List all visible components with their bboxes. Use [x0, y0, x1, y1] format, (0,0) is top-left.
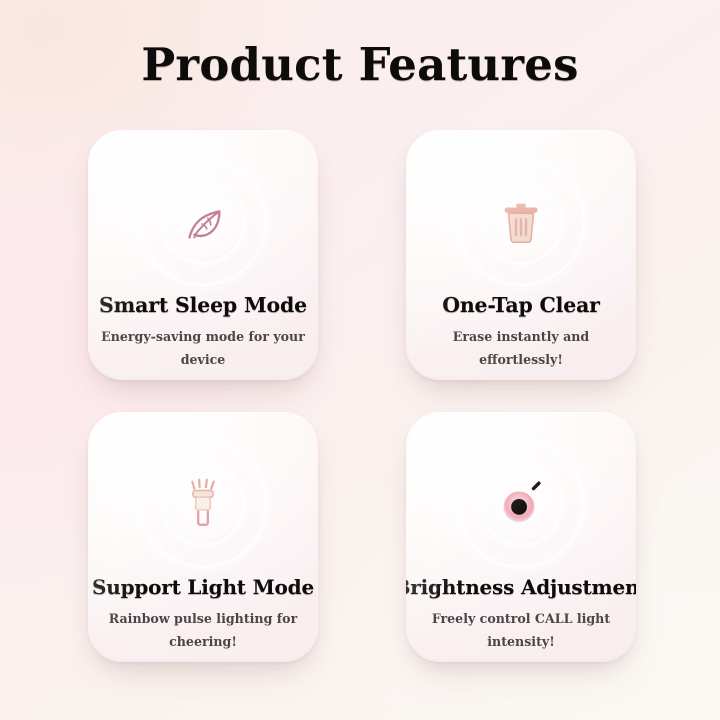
icon-halo — [457, 440, 585, 568]
icon-halo — [457, 158, 585, 286]
feature-card-support-light-mode[interactable]: Support Light Mode Rainbow pulse lightin… — [88, 412, 318, 662]
trash-can-icon — [494, 195, 548, 249]
card-description: Rainbow pulse lighting for cheering! — [94, 608, 312, 654]
feature-card-smart-sleep-mode[interactable]: Smart Sleep Mode Energy-saving mode for … — [88, 130, 318, 380]
feature-card-brightness-adjustment[interactable]: Brightness Adjustment Freely control CAL… — [406, 412, 636, 662]
card-description: Freely control CALL light intensity! — [412, 608, 630, 654]
card-title: Support Light Mode — [88, 575, 318, 599]
brightness-dial-icon — [494, 477, 548, 531]
flashlight-icon — [176, 477, 230, 531]
icon-halo — [139, 158, 267, 286]
leaf-icon — [176, 195, 230, 249]
feature-card-one-tap-clear[interactable]: One-Tap Clear Erase instantly and effort… — [406, 130, 636, 380]
feature-cards-grid: Smart Sleep Mode Energy-saving mode for … — [88, 130, 636, 664]
card-title: One-Tap Clear — [406, 293, 636, 317]
card-description: Erase instantly and effortlessly! — [412, 326, 630, 372]
card-description: Energy-saving mode for your device — [94, 326, 312, 372]
card-title: Smart Sleep Mode — [88, 293, 318, 317]
card-title: Brightness Adjustment — [406, 575, 636, 599]
page-title: Product Features — [0, 38, 720, 91]
icon-halo — [139, 440, 267, 568]
